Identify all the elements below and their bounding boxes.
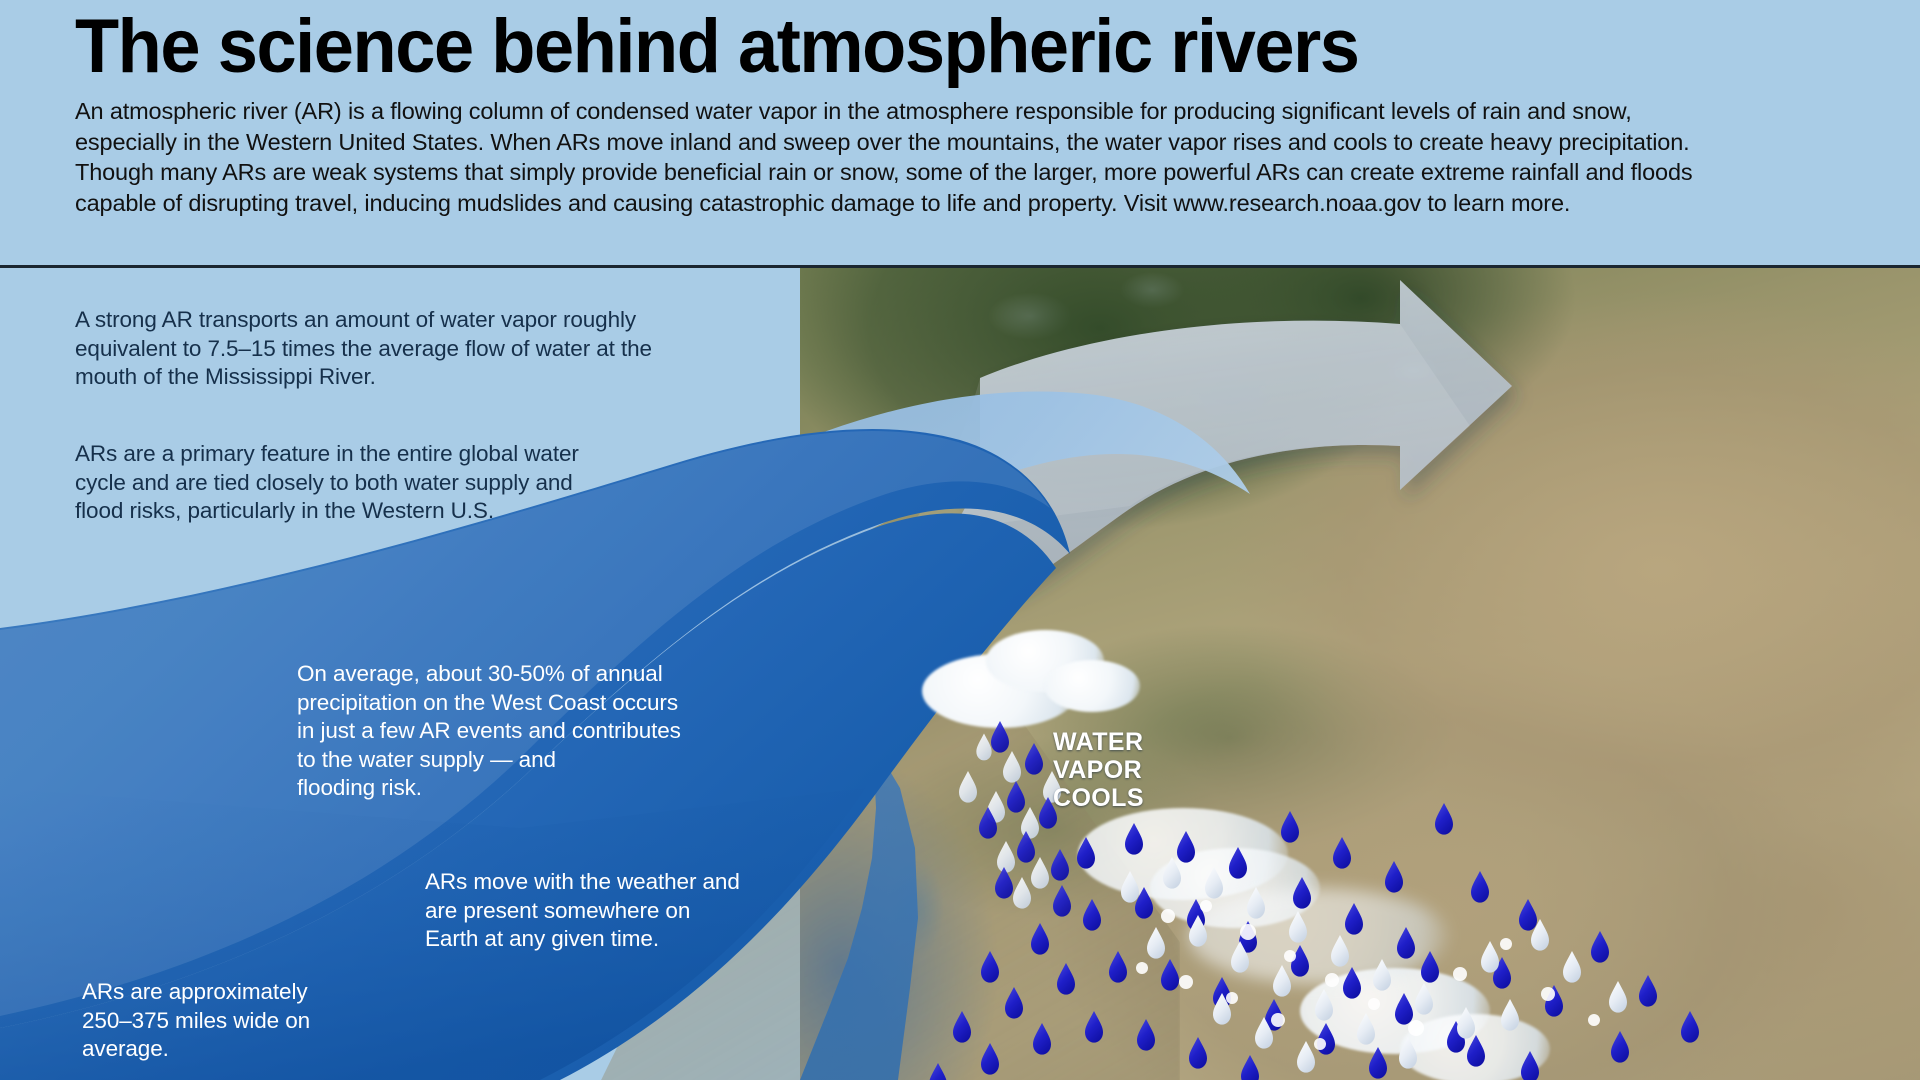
label-water-vapor-cools: WATER VAPOR COOLS xyxy=(1053,728,1144,812)
intro-paragraph: An atmospheric river (AR) is a flowing c… xyxy=(75,96,1850,218)
note-global-water-cycle: ARs are a primary feature in the entire … xyxy=(75,440,635,526)
note-width: ARs are approximately 250–375 miles wide… xyxy=(82,978,402,1064)
header-banner: The science behind atmospheric rivers An… xyxy=(0,0,1920,269)
note-water-vapor-volume: A strong AR transports an amount of wate… xyxy=(75,306,695,392)
page-title: The science behind atmospheric rivers xyxy=(75,4,1761,90)
infographic-poster: The science behind atmospheric rivers An… xyxy=(0,0,1920,1080)
intro-line-3: Though many ARs are weak systems that si… xyxy=(75,157,1850,188)
intro-line-1: An atmospheric river (AR) is a flowing c… xyxy=(75,96,1850,127)
intro-line-4: capable of disrupting travel, inducing m… xyxy=(75,188,1850,219)
note-move-with-weather: ARs move with the weather and are presen… xyxy=(425,868,805,954)
note-annual-precipitation: On average, about 30-50% of annual preci… xyxy=(297,660,717,803)
illustration-scene: WATER VAPOR COOLS CALIFORNIA A strong AR… xyxy=(0,268,1920,1080)
intro-line-2: especially in the Western United States.… xyxy=(75,127,1850,158)
